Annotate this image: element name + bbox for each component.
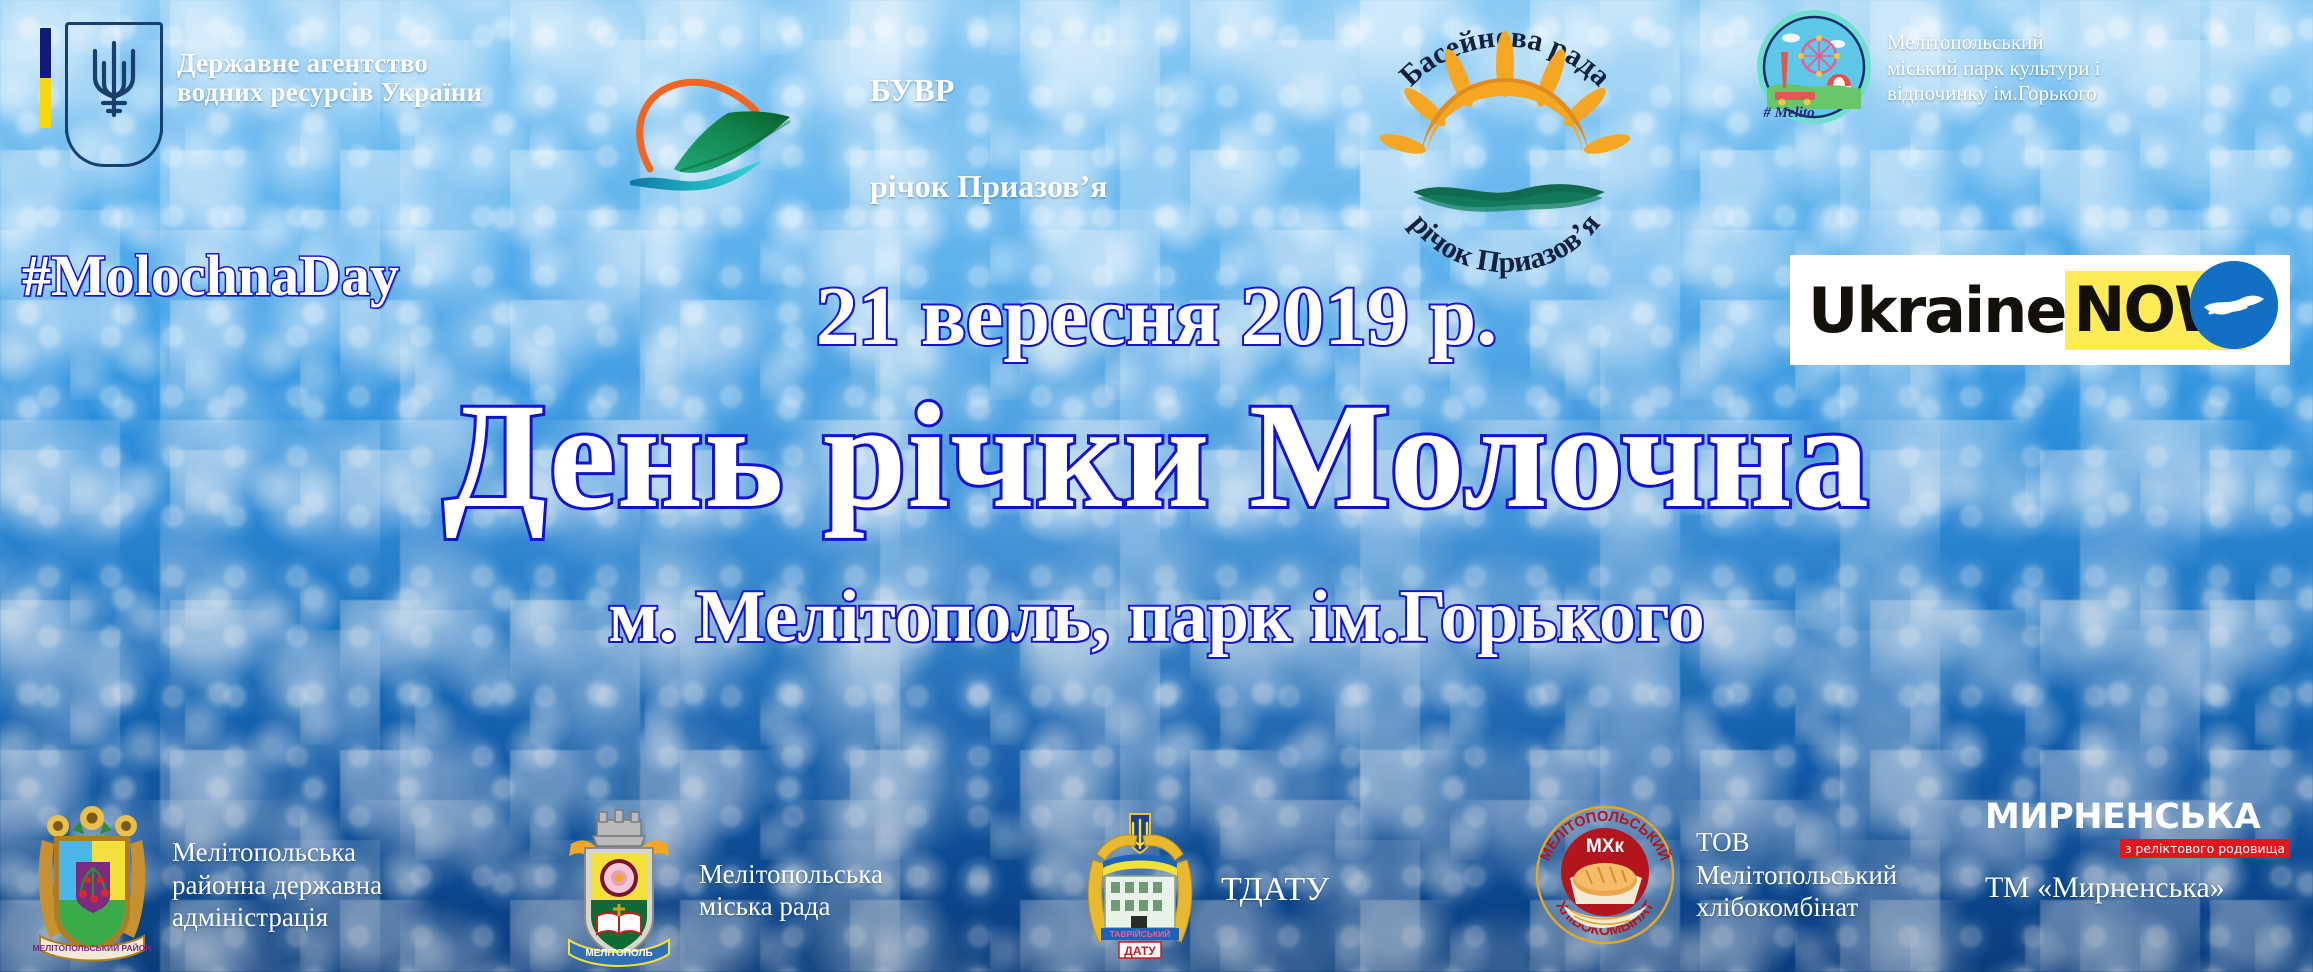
melitopol-city-coat-of-arms-icon: МЕЛІТОПОЛЬ xyxy=(555,808,683,972)
melito-park-label: Мелітопольський міський парк культури і … xyxy=(1887,8,2100,107)
myrnenska-wordmark-main: МИРНЕНСЬКА xyxy=(1985,800,2290,835)
partner-myrnenska: МИРНЕНСЬКА з реліктового родовища ТМ «Ми… xyxy=(1985,800,2285,904)
city-ribbon-text: МЕЛІТОПОЛЬ xyxy=(585,948,652,959)
sunrise-over-water-icon: Басейнова рада річок Приазов’я xyxy=(1355,2,1655,252)
event-banner: Державне агентство водних ресурсів Украї… xyxy=(0,0,2313,972)
tdatu-label: ТДАТУ xyxy=(1221,870,1329,911)
state-water-agency-logo: Державне агентство водних ресурсів Украї… xyxy=(40,22,482,133)
event-date: 21 вересня 2019 р. xyxy=(0,268,2313,365)
trident-icon xyxy=(84,37,144,123)
bread-plant-logo-icon: МЕЛІТОПОЛЬСЬКИЙ ХЛІБОКОМБІНАТ МХк xyxy=(1530,800,1680,950)
event-title: День річки Молочна xyxy=(0,370,2313,542)
partner-melitopol-bread-plant: МЕЛІТОПОЛЬСЬКИЙ ХЛІБОКОМБІНАТ МХк xyxy=(1530,800,1897,950)
district-ribbon-text: МЕЛІТОПОЛЬСЬКИЙ РАЙОН xyxy=(33,942,152,953)
myrnenska-label: ТМ «Мирненська» xyxy=(1985,872,2285,904)
buvr-label-line1: БУВР xyxy=(870,66,1107,114)
myrnenska-wordmark-sub: з реліктового родовища xyxy=(2120,839,2290,858)
partner-melitopol-city-council: МЕЛІТОПОЛЬ Мелітопольська міська рада xyxy=(555,808,883,972)
leaf-wave-icon xyxy=(620,73,860,203)
event-place: м. Мелітополь, парк ім.Горького xyxy=(0,575,2313,660)
city-council-label: Мелітопольська міська рада xyxy=(699,858,883,923)
buvr-label-line2: річок Приазов’я xyxy=(870,162,1107,210)
melito-park-logo: # Melito Мелітопольський міський парк ку… xyxy=(1755,8,2100,126)
melitopol-district-coat-of-arms-icon: МЕЛІТОПОЛЬСЬКИЙ РАЙОН xyxy=(28,800,156,970)
tdatu-emblem-icon: ТАВРІЙСЬКИЙ ДАТУ xyxy=(1075,808,1205,972)
myrnenska-wordmark: МИРНЕНСЬКА з реліктового родовища xyxy=(1985,800,2290,856)
melito-park-badge-text: # Melito xyxy=(1762,105,1814,121)
partner-melitopol-district-state-administration: МЕЛІТОПОЛЬСЬКИЙ РАЙОН Мелітопольська рай… xyxy=(28,800,382,970)
melito-park-badge-icon: # Melito xyxy=(1755,8,1873,126)
buvr-logo: БУВР річок Приазов’я xyxy=(620,18,1107,258)
state-water-agency-label: Державне агентство водних ресурсів Украї… xyxy=(177,49,482,106)
buvr-label: БУВР річок Приазов’я xyxy=(870,18,1107,258)
bakery-monogram: МХк xyxy=(1586,836,1625,857)
basin-council-logo: Басейнова рада річок Приазов’я xyxy=(1355,2,1655,252)
ukraine-flag-bar-icon xyxy=(40,28,51,128)
tdatu-emblem-text-2: ДАТУ xyxy=(1124,944,1156,958)
tdatu-emblem-text-1: ТАВРІЙСЬКИЙ xyxy=(1110,928,1171,939)
bread-plant-label: ТОВ Мелітопольський хлібокомбінат xyxy=(1696,826,1897,923)
ukraine-trident-shield-icon xyxy=(65,22,163,133)
district-administration-label: Мелітопольська районна державна адмініст… xyxy=(172,836,382,933)
partner-tdatu: ТАВРІЙСЬКИЙ ДАТУ ТДАТУ xyxy=(1075,808,1329,972)
